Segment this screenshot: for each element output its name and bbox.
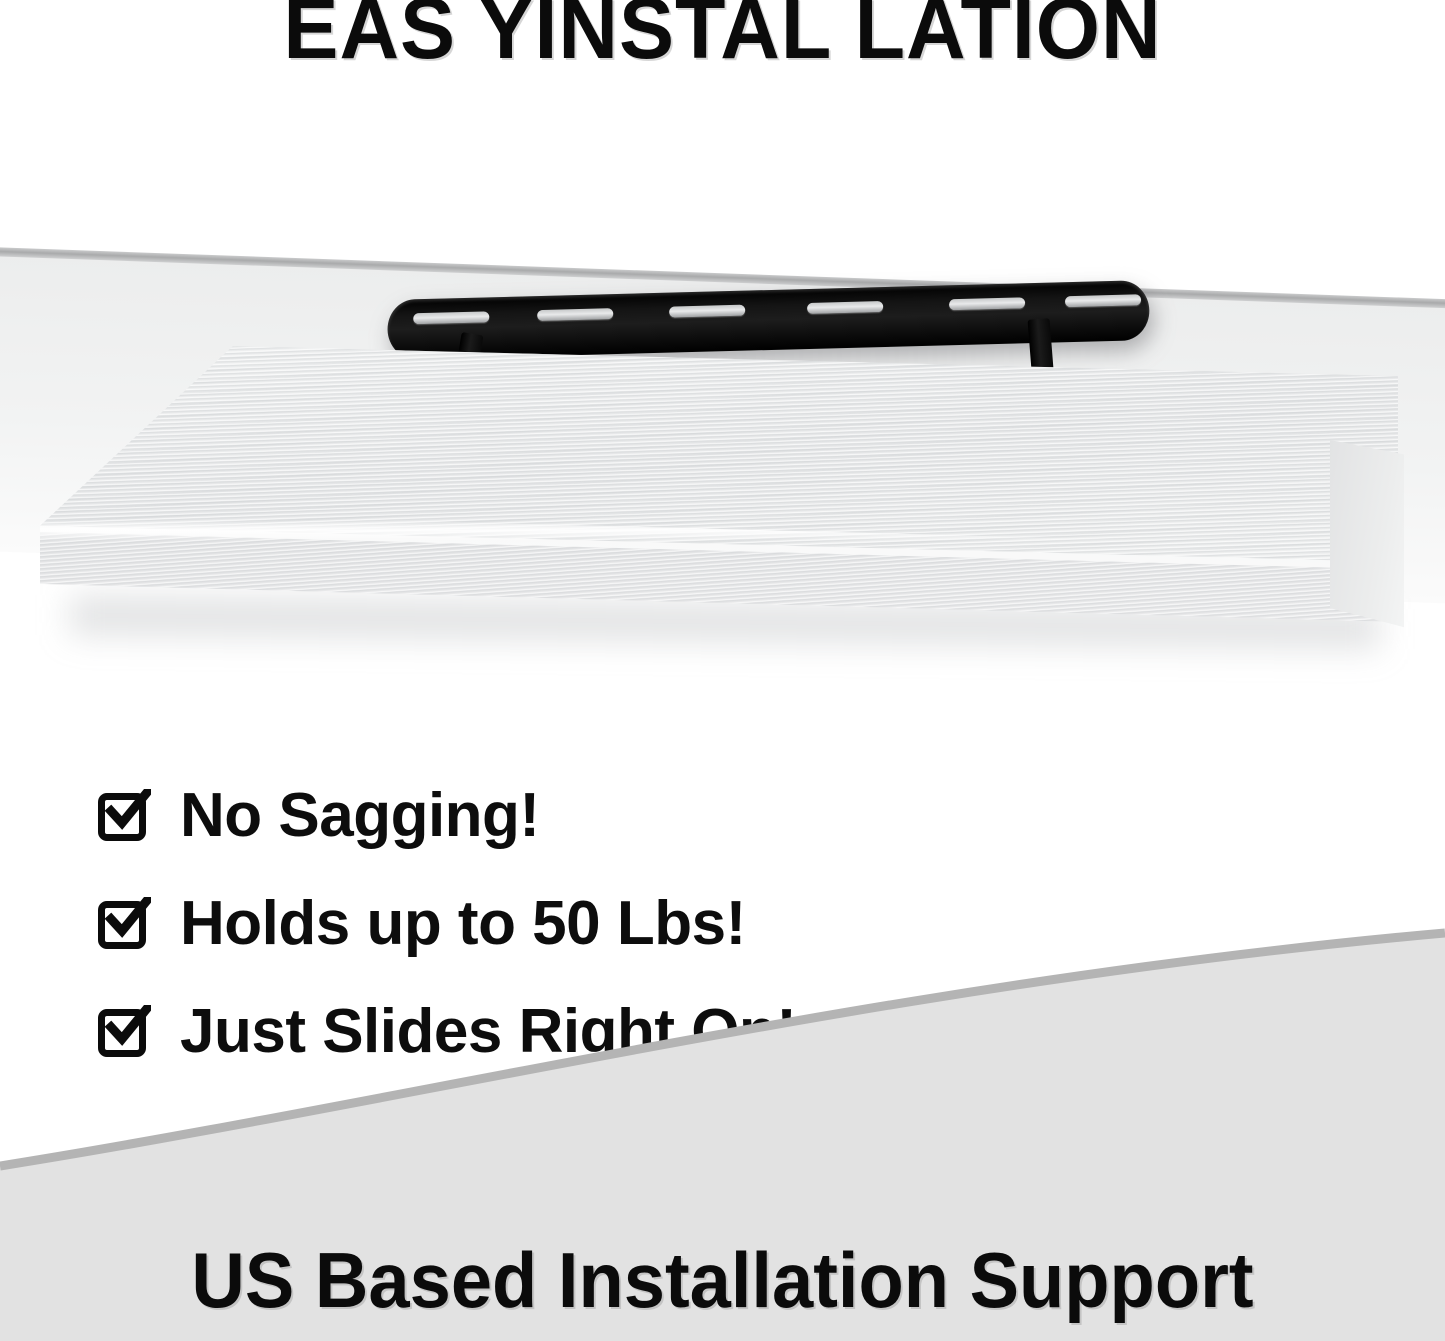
list-item: Just Slides Right On! [96, 978, 996, 1086]
checkmark-glyph [105, 1005, 151, 1051]
checkbox-checked-icon [96, 1001, 158, 1063]
footer-band-label: US Based Installation Support [36, 1241, 1409, 1319]
feature-label: Just Slides Right On! [180, 1001, 796, 1063]
feature-list: No Sagging! Holds up to 50 Lbs! Just Sli… [96, 762, 996, 1086]
floating-shelf [0, 150, 1445, 770]
product-feature-poster: EAS YINSTAL LATION [0, 0, 1445, 1341]
feature-label: No Sagging! [180, 785, 540, 847]
checkbox-checked-icon [96, 893, 158, 955]
list-item: Holds up to 50 Lbs! [96, 870, 996, 978]
checkbox-checked-icon [96, 785, 158, 847]
product-photo [0, 150, 1445, 770]
list-item: No Sagging! [96, 762, 996, 870]
page-title: EAS YINSTAL LATION [29, 0, 1416, 72]
feature-label: Holds up to 50 Lbs! [180, 893, 746, 955]
checkmark-glyph [105, 789, 151, 835]
checkmark-glyph [105, 897, 151, 943]
